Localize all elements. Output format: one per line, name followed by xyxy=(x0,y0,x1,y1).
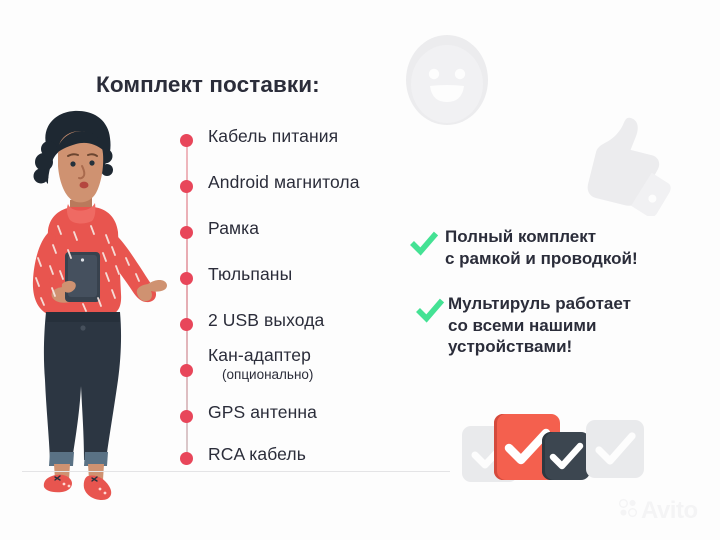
bullet-dot-icon xyxy=(180,318,193,331)
bullet-dot-icon xyxy=(180,452,193,465)
list-item-label: GPS антенна xyxy=(208,402,317,423)
bullet-dot-icon xyxy=(180,134,193,147)
benefit-line: со всеми нашими xyxy=(448,315,631,337)
benefit-text-1: Полный комплект с рамкой и проводкой! xyxy=(445,226,638,269)
list-item-sublabel: (опционально) xyxy=(222,367,313,382)
list-item-label: Рамка xyxy=(208,218,259,239)
green-check-icon xyxy=(409,228,439,258)
checkbox-cards-graphic xyxy=(462,414,642,496)
bullet-dot-icon xyxy=(180,410,193,423)
benefit-line: Мультируль работает xyxy=(448,293,631,315)
promo-image-canvas: Комплект поставки: xyxy=(0,0,720,540)
page-title: Комплект поставки: xyxy=(96,72,320,98)
list-item-label: 2 USB выхода xyxy=(208,310,324,331)
avito-wordmark: Avito xyxy=(641,499,698,523)
checkbox-card-gray-right xyxy=(586,420,644,478)
checkbox-card-dark xyxy=(542,432,590,480)
bullet-dot-icon xyxy=(180,180,193,193)
floor-line xyxy=(22,471,450,472)
bullet-dot-icon xyxy=(180,272,193,285)
benefit-line: устройствами! xyxy=(448,336,631,358)
smiley-face-icon xyxy=(404,34,490,126)
benefit-line: Полный комплект xyxy=(445,226,638,248)
avito-watermark: Avito xyxy=(618,498,698,523)
benefit-line: с рамкой и проводкой! xyxy=(445,248,638,270)
list-item-label: Кабель питания xyxy=(208,126,338,147)
list-item-label: RCA кабель xyxy=(208,444,306,465)
bullet-dot-icon xyxy=(180,226,193,239)
green-check-icon xyxy=(415,295,445,325)
avito-logo-icon xyxy=(618,498,638,523)
bullet-dot-icon xyxy=(180,364,193,377)
benefit-text-2: Мультируль работает со всеми нашими устр… xyxy=(448,293,631,358)
list-item-label: Android магнитола xyxy=(208,172,360,193)
list-item-label: Кан-адаптер xyxy=(208,345,311,366)
woman-illustration xyxy=(8,108,178,508)
thumbs-up-icon xyxy=(575,112,675,216)
list-item-label: Тюльпаны xyxy=(208,264,292,285)
package-contents-list: Кабель питания Android магнитола Рамка Т… xyxy=(178,130,438,460)
